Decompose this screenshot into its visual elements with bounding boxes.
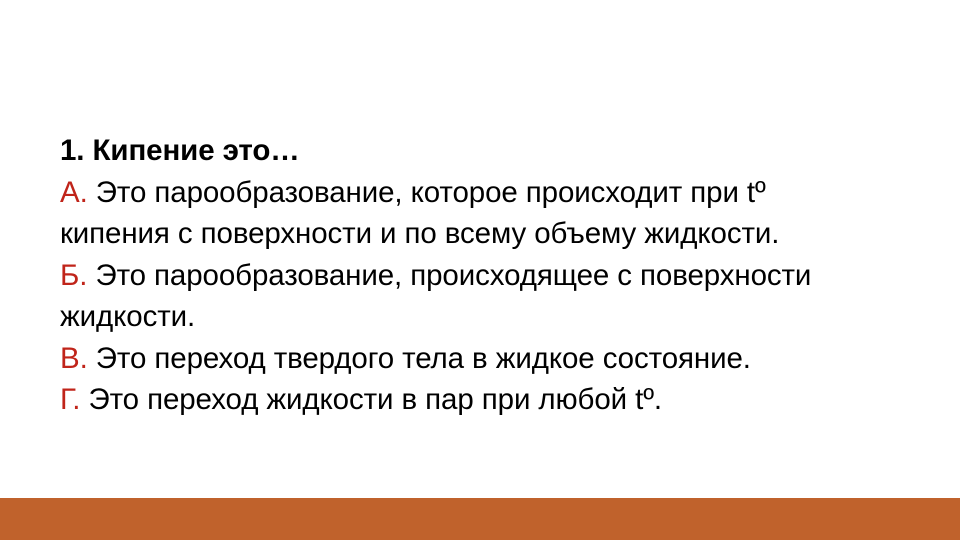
option-a-line-1: А. Это парообразование, которое происход…	[60, 172, 920, 214]
option-a-text-2: кипения с поверхности и по всему объему …	[60, 217, 779, 250]
slide: 1. Кипение это… А. Это парообразование, …	[0, 0, 960, 540]
option-g-marker: Г.	[60, 383, 80, 416]
question-line: 1. Кипение это…	[60, 130, 920, 172]
option-b-text-1: Это парообразование, происходящее с пове…	[95, 259, 811, 292]
slide-body: 1. Кипение это… А. Это парообразование, …	[60, 130, 920, 421]
question-text: 1. Кипение это…	[60, 134, 300, 167]
footer-accent-bar	[0, 498, 960, 540]
option-a-marker: А.	[60, 176, 88, 209]
option-v-text-1: Это переход твердого тела в жидкое состо…	[96, 342, 751, 375]
option-g-line-1: Г. Это переход жидкости в пар при любой …	[60, 379, 920, 421]
option-v-marker: В.	[60, 342, 88, 375]
option-b-marker: Б.	[60, 259, 87, 292]
option-a-text-1: Это парообразование, которое происходит …	[96, 176, 766, 209]
option-b-line-2: жидкости.	[60, 296, 920, 338]
option-a-line-2: кипения с поверхности и по всему объему …	[60, 213, 920, 255]
option-v-line-1: В. Это переход твердого тела в жидкое со…	[60, 338, 920, 380]
option-g-text-1: Это переход жидкости в пар при любой tº.	[88, 383, 662, 416]
option-b-line-1: Б. Это парообразование, происходящее с п…	[60, 255, 920, 297]
option-b-text-2: жидкости.	[60, 300, 195, 333]
